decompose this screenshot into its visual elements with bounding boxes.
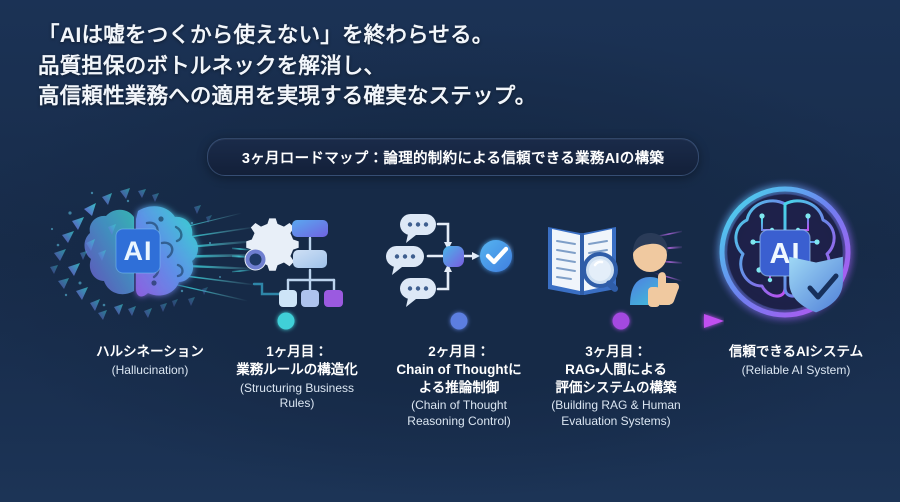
caption-step-3: 3ヶ月目： RAG・人間による 評価システムの構築 (Building RAG … <box>528 343 704 430</box>
roadmap-banner-label: 3ヶ月ロードマップ：論理的制約による信頼できる業務AIの構築 <box>242 147 664 168</box>
timeline-dot-2 <box>451 313 468 330</box>
flowchart-node-top <box>292 220 328 237</box>
shielded-ai-brain-icon: AI <box>700 176 870 332</box>
timeline-dot-1 <box>278 313 295 330</box>
svg-text:AI: AI <box>124 236 153 266</box>
right-arrowhead-icon <box>704 314 724 328</box>
gear-flowchart-icon <box>232 212 354 312</box>
caption-step-2-jp: 2ヶ月目： Chain of Thoughtに よる推論制御 <box>377 343 541 396</box>
flowchart-leaf-2 <box>301 290 319 307</box>
roadmap-timeline <box>272 306 724 336</box>
merge-node <box>443 246 464 267</box>
caption-reliable-ai: 信頼できるAIシステム (Reliable AI System) <box>690 343 900 379</box>
caption-step-2: 2ヶ月目： Chain of Thoughtに よる推論制御 (Chain of… <box>377 343 541 430</box>
headline-line-3: 高信頼性業務への適用を実現する確実なステップ。 <box>38 81 678 112</box>
infographic-canvas: 「AIは嘘をつくから使えない」を終わらせる。 品質担保のボトルネックを解消し、 … <box>0 0 900 502</box>
caption-reliable-ai-jp: 信頼できるAIシステム <box>690 343 900 361</box>
book-magnifier-thumbsup-icon <box>542 207 682 311</box>
roadmap-banner: 3ヶ月ロードマップ：論理的制約による信頼できる業務AIの構築 <box>207 138 699 176</box>
headline-line-1: 「AIは嘘をつくから使えない」を終わらせる。 <box>38 20 678 51</box>
caption-step-3-jp: 3ヶ月目： RAG・人間による 評価システムの構築 <box>528 343 704 396</box>
gear-shape <box>245 218 299 270</box>
speech-bubble-group <box>386 214 436 307</box>
caption-step-2-en: (Chain of Thought Reasoning Control) <box>377 398 541 430</box>
person-thumbsup-shape <box>630 233 679 307</box>
timeline-dot-3 <box>613 313 630 330</box>
page-title: 「AIは嘘をつくから使えない」を終わらせる。 品質担保のボトルネックを解消し、 … <box>38 20 678 112</box>
flowchart-leaf-3 <box>324 290 343 307</box>
caption-step-1: 1ヶ月目： 業務ルールの構造化 (Structuring Business Ru… <box>222 343 372 412</box>
speech-bubbles-checkmark-icon <box>382 210 514 312</box>
checkmark-badge <box>480 240 512 272</box>
caption-step-1-en: (Structuring Business Rules) <box>222 381 372 413</box>
headline-line-2: 品質担保のボトルネックを解消し、 <box>38 51 678 82</box>
caption-reliable-ai-en: (Reliable AI System) <box>690 363 900 379</box>
flowchart-node-mid <box>293 250 327 268</box>
caption-step-1-jp: 1ヶ月目： 業務ルールの構造化 <box>222 343 372 379</box>
ai-chip-left: AI <box>116 229 160 273</box>
flowchart-leaf-1 <box>279 290 297 307</box>
caption-step-3-en: (Building RAG & Human Evaluation Systems… <box>528 398 704 430</box>
shattered-ai-brain-icon: AI <box>42 183 257 333</box>
